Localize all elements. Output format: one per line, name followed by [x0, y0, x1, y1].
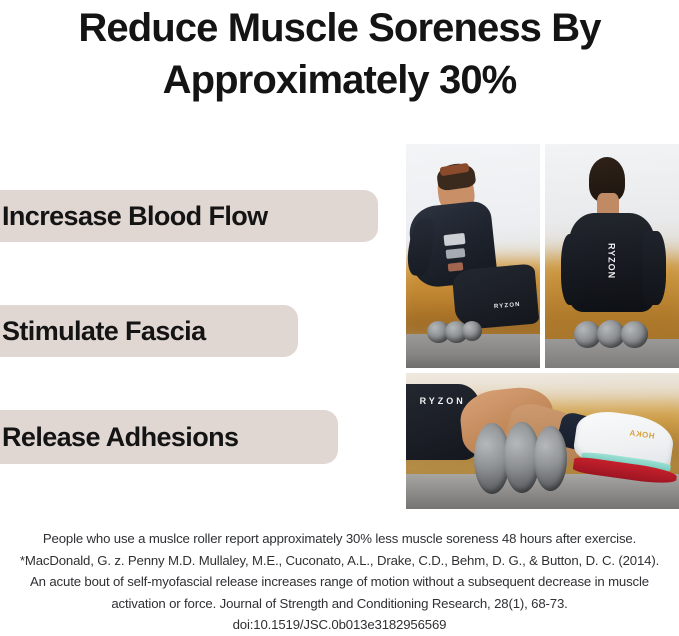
photo-leg-on-roller-with-shoe: RYZON HOKA [406, 373, 679, 509]
kit-sponsor-logo [447, 262, 462, 271]
photo-athlete-side-view-on-roller: RYZON [406, 144, 540, 368]
photo-2-artwork: RYZON [545, 144, 679, 368]
kit-sponsor-logo [443, 233, 465, 246]
brand-text-ryzon: RYZON [420, 396, 466, 406]
page-title: Reduce Muscle Soreness By Approximately … [0, 2, 679, 106]
athlete-arm-left [561, 234, 582, 306]
infographic-page: Reduce Muscle Soreness By Approximately … [0, 0, 679, 631]
athlete-arm-right [643, 231, 666, 305]
product-photo-grid: RYZON RYZON [406, 144, 679, 508]
benefit-label: Incresase Blood Flow [2, 203, 268, 230]
benefit-pill-stimulate-fascia: Stimulate Fascia [0, 305, 298, 357]
massage-ball [534, 426, 567, 492]
benefit-pill-increase-blood-flow: Incresase Blood Flow [0, 190, 378, 242]
benefit-pill-release-adhesions: Release Adhesions [0, 410, 338, 464]
athlete-legs [452, 264, 540, 331]
brand-text-ryzon: RYZON [607, 243, 617, 279]
photo-athlete-back-view-on-roller: RYZON [545, 144, 679, 368]
benefit-label: Stimulate Fascia [2, 318, 206, 345]
footnote-citation: People who use a muslce roller report ap… [18, 528, 661, 636]
page-title-line-1: Reduce Muscle Soreness By [0, 2, 679, 54]
benefits-list: Incresase Blood Flow Stimulate Fascia Re… [0, 144, 400, 508]
benefit-label: Release Adhesions [2, 424, 238, 451]
photo-1-artwork: RYZON [406, 144, 540, 368]
photo-3-artwork: RYZON HOKA [406, 373, 679, 509]
page-title-line-2: Approximately 30% [0, 54, 679, 106]
massage-ball [621, 321, 648, 348]
